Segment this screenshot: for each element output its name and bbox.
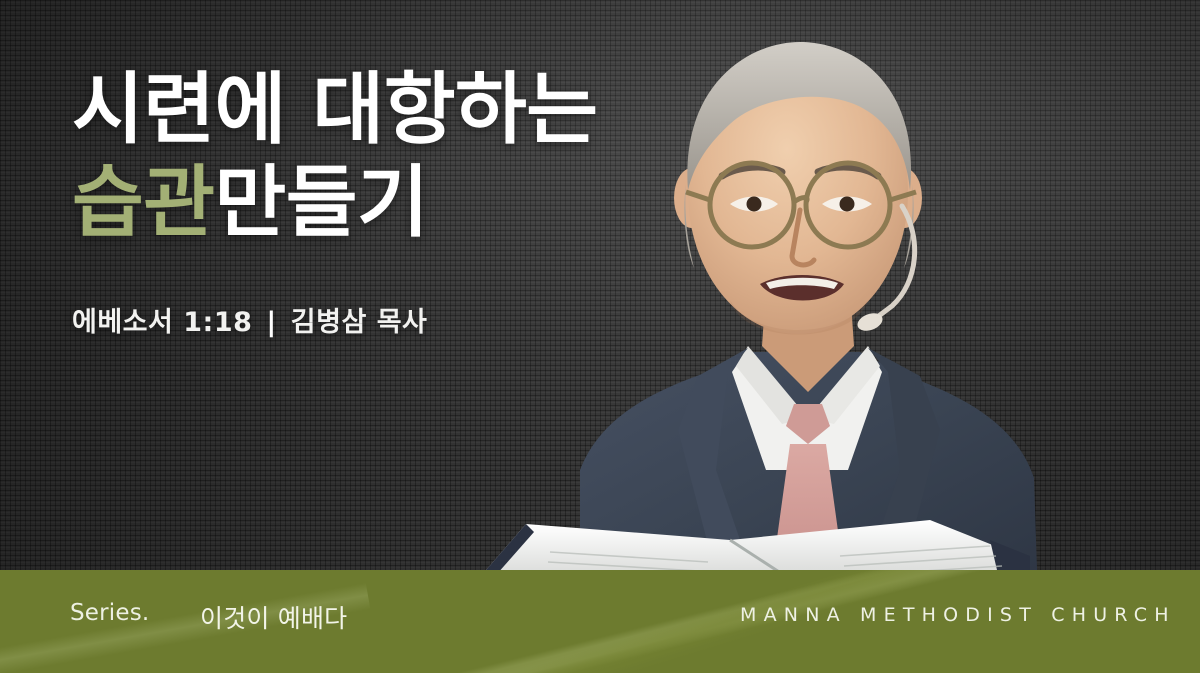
church-name: MANNA METHODIST CHURCH: [740, 604, 1176, 626]
series-label: Series.: [70, 600, 149, 626]
title-highlight-word: 습관: [72, 158, 215, 248]
subtitle-separator: |: [252, 307, 290, 338]
pupil-right: [840, 197, 855, 212]
sermon-subtitle: 에베소서 1:18|김병삼 목사: [72, 300, 427, 339]
series-name: 이것이 예배다: [200, 599, 347, 635]
title-line-1: 시련에 대항하는: [72, 60, 692, 161]
scripture-reference: 에베소서 1:18: [72, 307, 252, 338]
title-line-2-rest: 만들기: [215, 158, 429, 248]
title-line-2: 습관만들기: [72, 153, 692, 254]
sermon-title: 시련에 대항하는 습관만들기: [72, 60, 692, 255]
sermon-title-slide: 시련에 대항하는 습관만들기 에베소서 1:18|김병삼 목사 Series. …: [0, 0, 1200, 673]
pupil-left: [747, 197, 762, 212]
speaker-name: 김병삼 목사: [291, 307, 428, 338]
